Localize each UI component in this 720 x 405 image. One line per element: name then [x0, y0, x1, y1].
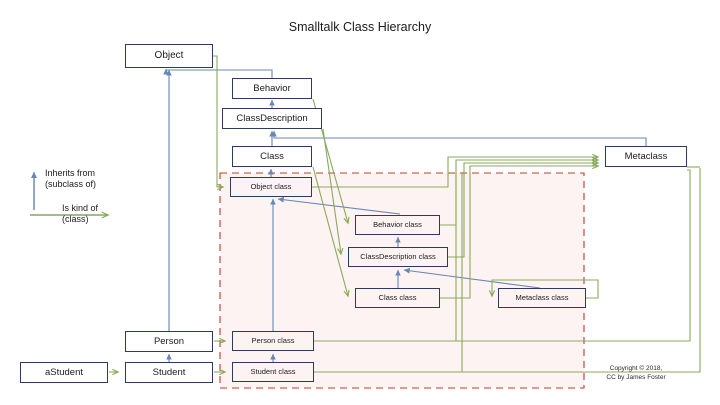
node-class[interactable]: Class: [232, 146, 312, 167]
page-title: Smalltalk Class Hierarchy: [0, 20, 720, 34]
node-label: Metaclass class: [516, 294, 569, 302]
node-label: Behavior: [253, 84, 291, 94]
diagram-canvas: Smalltalk Class Hierarchy Inherits from …: [0, 0, 720, 405]
node-label: ClassDescription: [236, 114, 307, 124]
node-object[interactable]: Object: [125, 44, 213, 68]
node-label: Behavior class: [373, 221, 422, 229]
node-classdescription[interactable]: ClassDescription: [222, 108, 322, 129]
node-person[interactable]: Person: [125, 331, 213, 352]
node-label: Metaclass: [625, 152, 668, 162]
node-classclass[interactable]: Class class: [355, 288, 440, 308]
node-label: Student class: [250, 368, 295, 376]
node-metaclass[interactable]: Metaclass: [605, 146, 687, 167]
node-label: Class class: [379, 294, 417, 302]
node-label: Class: [260, 152, 284, 162]
connector-layer: [0, 0, 720, 405]
node-label: Object class: [251, 183, 292, 191]
node-astudent[interactable]: aStudent: [20, 362, 108, 383]
node-studentclass[interactable]: Student class: [232, 362, 314, 382]
node-label: aStudent: [45, 368, 83, 378]
node-label: ClassDescription class: [360, 253, 435, 261]
legend-inherits-label: Inherits from (subclass of): [45, 168, 96, 191]
node-personclass[interactable]: Person class: [232, 331, 314, 351]
copyright-notice: Copyright © 2018, CC by James Foster: [566, 364, 706, 383]
node-behavior[interactable]: Behavior: [232, 78, 312, 99]
node-label: Person: [154, 337, 184, 347]
node-behaviorclass[interactable]: Behavior class: [355, 215, 440, 235]
node-label: Object: [155, 51, 184, 62]
node-objectclass[interactable]: Object class: [230, 177, 312, 197]
node-classdescclass[interactable]: ClassDescription class: [348, 247, 448, 267]
node-student[interactable]: Student: [125, 362, 213, 383]
legend-kindof-label: Is kind of (class): [62, 203, 98, 226]
node-metaclassclass[interactable]: Metaclass class: [498, 288, 586, 308]
node-label: Student: [153, 368, 186, 378]
node-label: Person class: [252, 337, 295, 345]
